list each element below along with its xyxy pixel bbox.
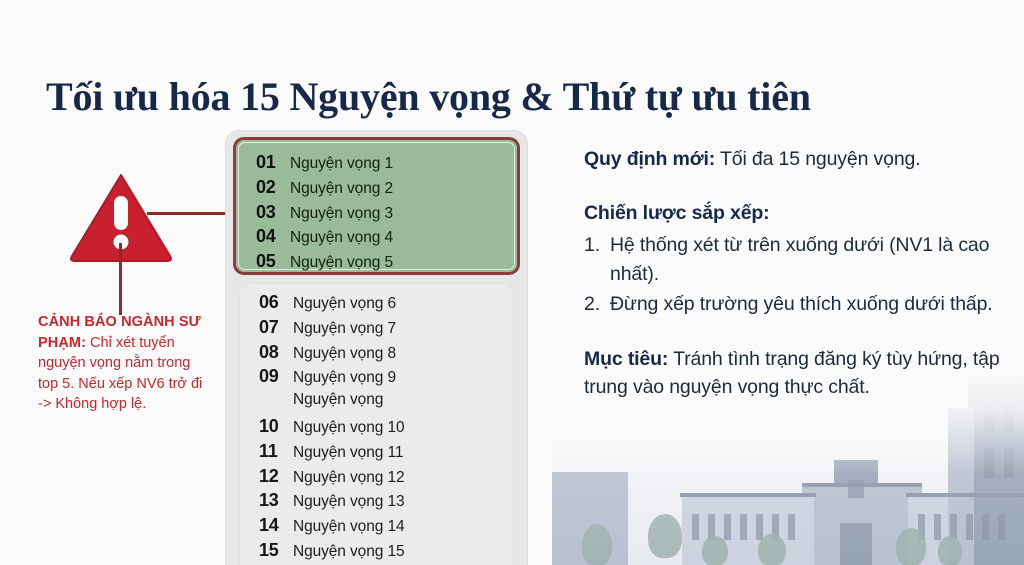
page-title: Tối ưu hóa 15 Nguyện vọng & Thứ tự ưu ti… — [46, 73, 811, 121]
wish-row-number: 10 — [239, 416, 293, 437]
wish-row-label: Nguyện vọng 10 — [293, 419, 405, 437]
photo-window — [1004, 402, 1014, 432]
wish-row-label: Nguyện vọng 11 — [293, 444, 403, 462]
photo-roofline-center — [802, 483, 922, 487]
photo-window — [740, 514, 747, 540]
rule-paragraph: Quy định mới: Tối đa 15 nguyện vọng. — [584, 145, 1002, 173]
wish-row-number: 02 — [236, 177, 290, 198]
wish-row-number: 11 — [239, 441, 293, 462]
photo-window — [788, 514, 795, 540]
photo-roofline-left — [680, 493, 816, 497]
wish-row-number: 15 — [239, 540, 293, 561]
wish-row-label: Nguyện vọng 1 — [290, 155, 393, 173]
photo-window — [966, 514, 973, 540]
wish-row-label: Nguyện vọng — [293, 391, 383, 409]
photo-window — [918, 514, 925, 540]
wish-row[interactable]: 03Nguyện vọng 3 — [236, 202, 517, 227]
photo-building-center — [802, 486, 922, 565]
slide-canvas: Tối ưu hóa 15 Nguyện vọng & Thứ tự ưu ti… — [0, 0, 1024, 565]
wish-row-number: 05 — [236, 251, 290, 272]
rule-text: Tối đa 15 nguyện vọng. — [715, 148, 920, 170]
warning-text: CẢNH BÁO NGÀNH SƯ PHẠM: Chỉ xét tuyển ng… — [38, 312, 203, 415]
photo-archway — [840, 523, 872, 565]
photo-window — [708, 514, 715, 540]
connector-line-vertical — [119, 243, 122, 315]
photo-window — [692, 514, 699, 540]
wish-row[interactable]: 12Nguyện vọng 12 — [239, 466, 514, 491]
photo-window — [984, 448, 994, 478]
wish-row[interactable]: 01Nguyện vọng 1 — [236, 152, 517, 177]
wish-row-number: 01 — [236, 152, 290, 173]
wish-row-label: Nguyện vọng 15 — [293, 543, 405, 561]
wish-row-label: Nguyện vọng 6 — [293, 295, 396, 313]
photo-tree — [896, 528, 926, 565]
wish-row[interactable]: 11Nguyện vọng 11 — [239, 441, 514, 466]
wish-row[interactable]: 08Nguyện vọng 8 — [239, 342, 514, 367]
photo-tree — [582, 524, 612, 565]
rule-label: Quy định mới: — [584, 148, 715, 170]
wish-rows-remaining: 06Nguyện vọng 607Nguyện vọng 708Nguyện v… — [239, 283, 514, 565]
photo-tree — [702, 536, 728, 565]
photo-building-left-wing — [682, 496, 814, 565]
wish-row-number: 08 — [239, 342, 293, 363]
wish-row[interactable]: 06Nguyện vọng 6 — [239, 292, 514, 317]
right-text-column: Quy định mới: Tối đa 15 nguyện vọng. Chi… — [584, 145, 1002, 427]
wish-row-number: 03 — [236, 202, 290, 223]
photo-tree — [938, 536, 962, 565]
wish-row-number: 09 — [239, 366, 293, 387]
wish-row[interactable]: 15Nguyện vọng 15 — [239, 540, 514, 565]
photo-building-right-mid — [948, 408, 974, 565]
strategy-list-item: Đừng xếp trường yêu thích xuống dưới thấ… — [584, 290, 1002, 319]
wish-row-label: Nguyện vọng 3 — [290, 205, 393, 223]
strategy-list: Hệ thống xét từ trên xuống dưới (NV1 là … — [584, 231, 1002, 319]
goal-paragraph: Mục tiêu: Tránh tình trạng đăng ký tùy h… — [584, 345, 1002, 401]
wish-row-number: 07 — [239, 317, 293, 338]
photo-window — [724, 514, 731, 540]
photo-window — [1004, 448, 1014, 478]
wish-list-card: 01Nguyện vọng 102Nguyện vọng 203Nguyện v… — [226, 131, 527, 565]
photo-clock — [848, 480, 864, 498]
strategy-heading: Chiến lược sắp xếp: — [584, 199, 1002, 227]
wish-row[interactable]: 14Nguyện vọng 14 — [239, 515, 514, 540]
wish-row-label: Nguyện vọng 9 — [293, 369, 396, 387]
wish-row[interactable]: 07Nguyện vọng 7 — [239, 317, 514, 342]
photo-window — [982, 514, 989, 540]
wish-row-label: Nguyện vọng 12 — [293, 469, 405, 487]
wish-row[interactable]: 04Nguyện vọng 4 — [236, 226, 517, 251]
wish-row[interactable]: 10Nguyện vọng 10 — [239, 416, 514, 441]
wish-row-number: 14 — [239, 515, 293, 536]
wish-rows-highlighted: 01Nguyện vọng 102Nguyện vọng 203Nguyện v… — [236, 140, 517, 276]
wish-row-label: Nguyện vọng 13 — [293, 493, 405, 511]
wish-row-label: Nguyện vọng 2 — [290, 180, 393, 198]
wish-row-label: Nguyện vọng 7 — [293, 320, 396, 338]
wish-row[interactable]: 05Nguyện vọng 5 — [236, 251, 517, 276]
photo-tree — [758, 534, 786, 565]
wish-row-number: 04 — [236, 226, 290, 247]
photo-window — [772, 514, 779, 540]
wish-row[interactable]: Nguyện vọng — [239, 391, 514, 416]
wish-row-label: Nguyện vọng 8 — [293, 345, 396, 363]
wish-row[interactable]: 02Nguyện vọng 2 — [236, 177, 517, 202]
strategy-list-item: Hệ thống xét từ trên xuống dưới (NV1 là … — [584, 231, 1002, 289]
goal-label: Mục tiêu: — [584, 348, 668, 370]
photo-building-far-left — [552, 472, 628, 565]
wish-row[interactable]: 09Nguyện vọng 9 — [239, 366, 514, 391]
wish-row-label: Nguyện vọng 14 — [293, 518, 405, 536]
photo-window — [998, 514, 1005, 540]
wish-row-label: Nguyện vọng 5 — [290, 254, 393, 272]
photo-roofline-right — [906, 493, 1024, 497]
wish-group-remaining: 06Nguyện vọng 607Nguyện vọng 708Nguyện v… — [239, 283, 514, 565]
wish-row-number: 13 — [239, 490, 293, 511]
photo-tree — [648, 514, 682, 558]
photo-building-right-wing — [908, 496, 1024, 565]
wish-group-top-five: 01Nguyện vọng 102Nguyện vọng 203Nguyện v… — [233, 137, 520, 275]
wish-row-number: 12 — [239, 466, 293, 487]
wish-row-label: Nguyện vọng 4 — [290, 229, 393, 247]
photo-building-tower — [834, 460, 878, 565]
photo-window — [934, 514, 941, 540]
wish-row[interactable]: 13Nguyện vọng 13 — [239, 490, 514, 515]
photo-window — [950, 514, 957, 540]
photo-window — [756, 514, 763, 540]
wish-row-number: 06 — [239, 292, 293, 313]
